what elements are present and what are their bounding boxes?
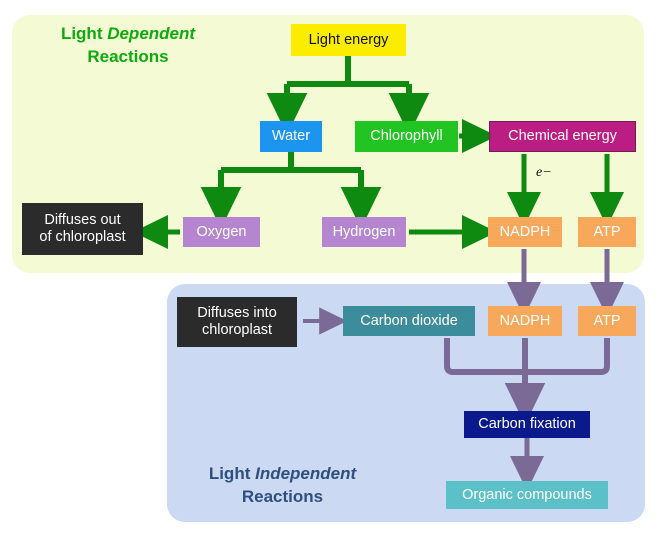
node-light-energy[interactable]: Light energy bbox=[291, 24, 406, 56]
node-hydrogen[interactable]: Hydrogen bbox=[322, 217, 406, 247]
panel-title-light-dependent: Light DependentReactions bbox=[28, 22, 228, 68]
node-diffuses-into-chloroplast[interactable]: Diffuses into chloroplast bbox=[177, 297, 297, 347]
panel-title-light-independent: Light IndependentReactions bbox=[180, 462, 385, 508]
title-plain-independent: Light bbox=[209, 464, 255, 483]
diagram-canvas: Light DependentReactions Light Independe… bbox=[0, 0, 656, 540]
title-line2-dependent: Reactions bbox=[87, 47, 168, 66]
title-plain-dependent: Light bbox=[61, 24, 107, 43]
title-emphasis-independent: Independent bbox=[255, 464, 356, 483]
node-nadph-light-dependent[interactable]: NADPH bbox=[488, 217, 562, 247]
node-oxygen[interactable]: Oxygen bbox=[183, 217, 260, 247]
title-line2-independent: Reactions bbox=[242, 487, 323, 506]
node-carbon-fixation[interactable]: Carbon fixation bbox=[464, 411, 590, 438]
node-atp-light-independent[interactable]: ATP bbox=[578, 306, 636, 336]
node-atp-light-dependent[interactable]: ATP bbox=[578, 217, 636, 247]
node-organic-compounds[interactable]: Organic compounds bbox=[446, 481, 608, 509]
node-nadph-light-independent[interactable]: NADPH bbox=[488, 306, 562, 336]
node-diffuses-out-of-chloroplast[interactable]: Diffuses out of chloroplast bbox=[22, 203, 143, 255]
electron-label: e− bbox=[536, 165, 552, 181]
node-water[interactable]: Water bbox=[260, 121, 322, 152]
node-chlorophyll[interactable]: Chlorophyll bbox=[355, 121, 458, 152]
title-emphasis-dependent: Dependent bbox=[107, 24, 195, 43]
node-carbon-dioxide[interactable]: Carbon dioxide bbox=[343, 306, 475, 336]
node-chemical-energy[interactable]: Chemical energy bbox=[489, 121, 636, 152]
